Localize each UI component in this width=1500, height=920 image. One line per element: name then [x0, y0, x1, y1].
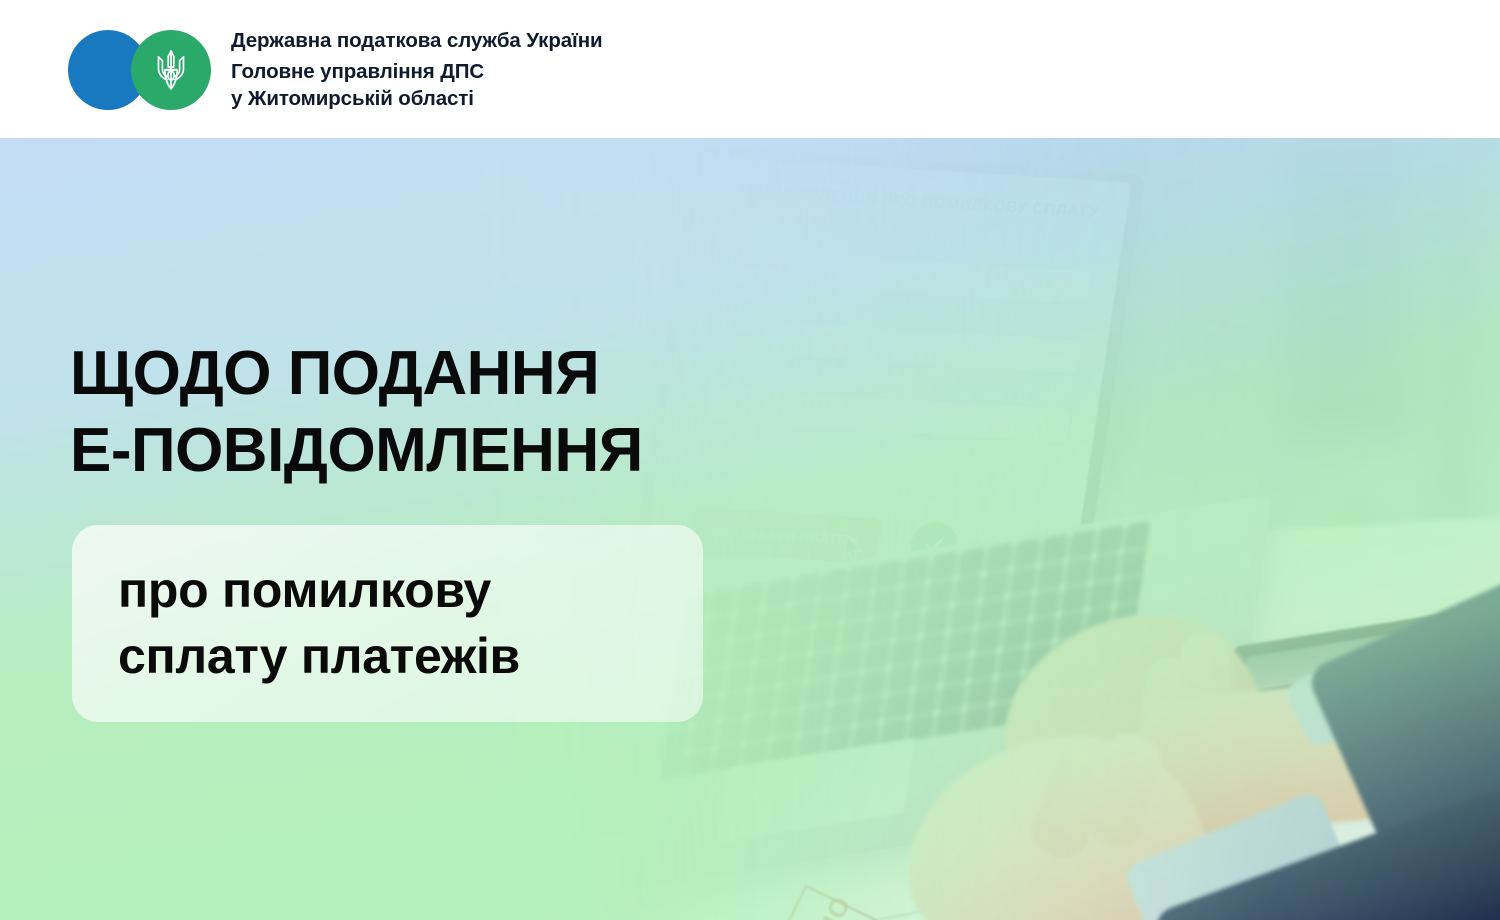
brand-text: Державна податкова служба України Головн…	[231, 28, 603, 113]
promo-banner: АНУЛЬОВАНО ПОВІДОМЛЕННЯ ПРО ПОМИЛКОВУ СП…	[0, 0, 1500, 920]
subtitle-card: про помилкову сплату платежів	[72, 525, 703, 722]
subtitle-line-1: про помилкову	[118, 558, 520, 624]
page-title: ЩОДО ПОДАННЯ Е-ПОВІДОМЛЕННЯ	[70, 336, 643, 490]
tryzub-icon	[131, 30, 211, 110]
hero-content: ЩОДО ПОДАННЯ Е-ПОВІДОМЛЕННЯ про помилков…	[0, 138, 1500, 920]
org-name-line-2: Головне управління ДПС	[231, 59, 603, 86]
headline-line-1: ЩОДО ПОДАННЯ	[70, 336, 643, 413]
headline-line-2: Е-ПОВІДОМЛЕННЯ	[70, 413, 643, 490]
site-header: Державна податкова служба України Головн…	[0, 0, 1500, 138]
org-name-line-3: у Житомирській області	[231, 86, 603, 113]
brand-lockup[interactable]: Державна податкова служба України Головн…	[68, 28, 603, 113]
subtitle-line-2: сплату платежів	[118, 624, 520, 690]
logo	[68, 30, 211, 110]
hero-image-canvas: АНУЛЬОВАНО ПОВІДОМЛЕННЯ ПРО ПОМИЛКОВУ СП…	[0, 138, 1500, 920]
page-subtitle: про помилкову сплату платежів	[118, 558, 520, 689]
org-name-line-1: Державна податкова служба України	[231, 28, 603, 54]
